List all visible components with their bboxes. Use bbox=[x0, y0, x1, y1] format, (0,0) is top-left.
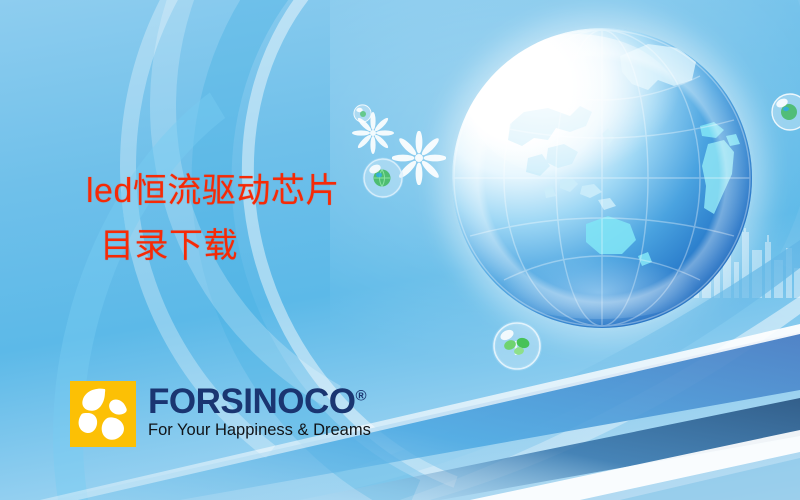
forsinoco-petal-mark-icon bbox=[70, 381, 136, 447]
registered-trademark-icon: ® bbox=[355, 387, 366, 404]
globe-grid-lines bbox=[452, 28, 752, 328]
starburst-flower-icon bbox=[392, 131, 446, 190]
diagonal-ribbon-swooshes bbox=[0, 240, 800, 500]
bubble-globe-icon bbox=[362, 157, 404, 204]
globe-sphere bbox=[452, 28, 752, 328]
city-skyline-silhouette bbox=[680, 228, 800, 298]
logo-wordmark: FORSINOCO® bbox=[148, 384, 371, 419]
logo-tagline: For Your Happiness & Dreams bbox=[148, 421, 371, 440]
page-title: led恒流驱动芯片 目录下载 bbox=[86, 164, 340, 274]
company-logo: FORSINOCO® For Your Happiness & Dreams bbox=[70, 381, 371, 447]
globe-halo bbox=[426, 2, 778, 354]
globe-continents bbox=[452, 28, 752, 328]
logo-wordmark-text: FORSINOCO bbox=[148, 382, 355, 421]
promo-banner: led恒流驱动芯片 目录下载 FORSINOCO® For Your Happi… bbox=[0, 0, 800, 500]
bubble-plant-icon bbox=[492, 321, 542, 376]
world-globe bbox=[452, 28, 752, 328]
globe-icon bbox=[374, 170, 391, 187]
starburst-flower-icon bbox=[352, 112, 394, 159]
background-wash bbox=[330, 0, 800, 370]
headline-line-1: led恒流驱动芯片 bbox=[86, 172, 340, 210]
bubble-globe-icon bbox=[770, 92, 800, 137]
globe-bottom-sheen bbox=[500, 253, 698, 319]
headline-line-2: 目录下载 bbox=[86, 219, 340, 274]
globe-highlight bbox=[470, 34, 680, 178]
bubble-icon bbox=[353, 104, 372, 128]
